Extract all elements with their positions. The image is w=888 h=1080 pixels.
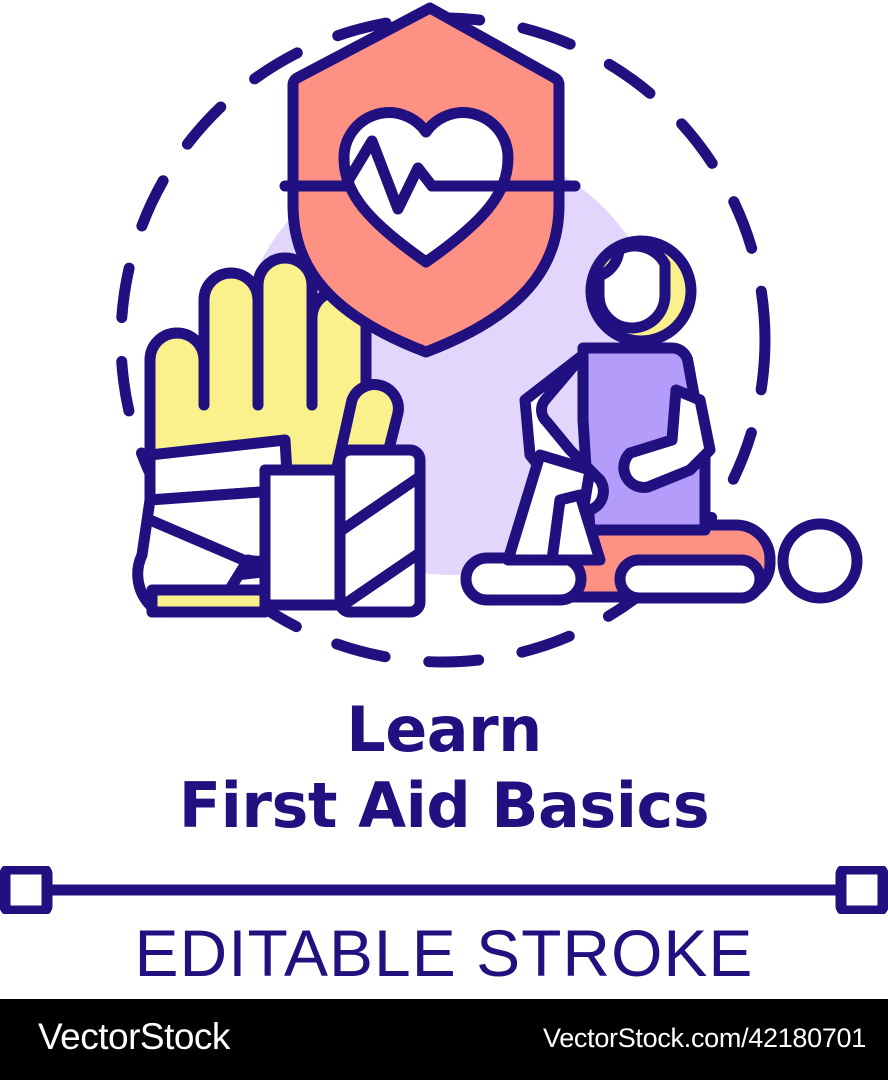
watermark-brand: VectorStock: [38, 1016, 230, 1058]
watermark-url: VectorStock.com/42180701: [543, 1023, 866, 1054]
learn-first-aid-basics-illustration: [0, 0, 888, 690]
editable-stroke-caption: EDITABLE STROKE: [0, 915, 888, 991]
stroke-rule-right-handle: [841, 869, 883, 911]
title-line-1: Learn: [0, 692, 888, 768]
watermark-bar: VectorStock VectorStock.com/42180701: [0, 999, 888, 1080]
title-line-2: First Aid Basics: [0, 768, 888, 844]
bandage-roll-body: [265, 470, 340, 605]
concept-title: Learn First Aid Basics: [0, 692, 888, 844]
patient-arm: [620, 560, 760, 598]
concept-icon-canvas: Learn First Aid Basics EDITABLE STROKE V…: [0, 0, 888, 1080]
bandage-roll: [340, 450, 420, 612]
stroke-rule-left-handle: [5, 869, 47, 911]
patient-head: [783, 524, 857, 598]
editable-stroke-rule: [0, 866, 888, 914]
